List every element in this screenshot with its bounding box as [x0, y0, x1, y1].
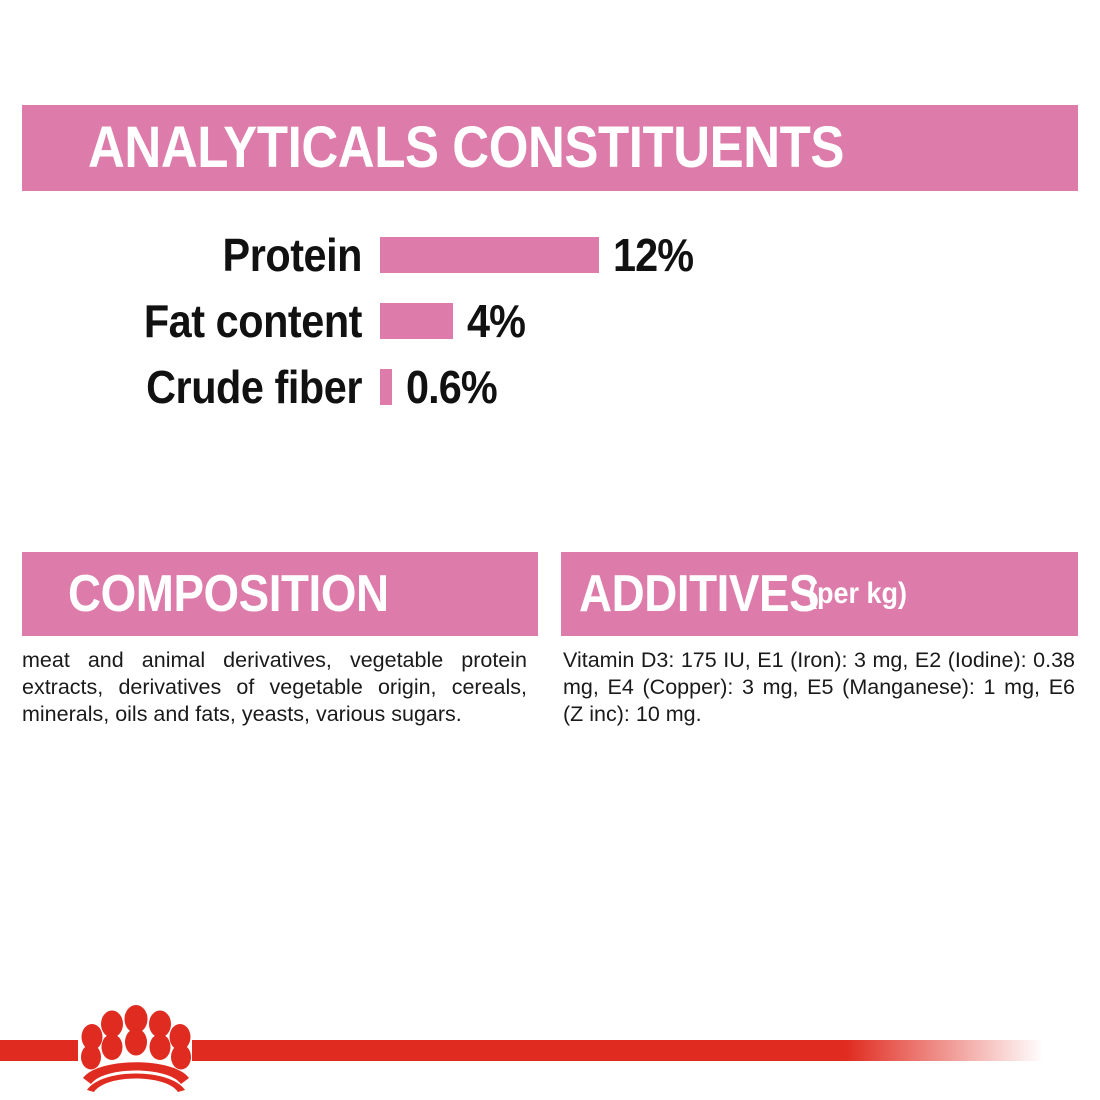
analyticals-constituents-title: ANALYTICALS CONSTITUENTS: [88, 119, 844, 177]
brand-footer: [0, 1000, 1100, 1100]
additives-header: ADDITIVES (per kg): [561, 552, 1078, 636]
nutrient-label-crude-fiber: Crude fiber: [38, 360, 380, 414]
nutrient-value-crude-fiber: 0.6%: [406, 360, 497, 414]
nutrient-bar-crude-fiber: [380, 369, 392, 405]
nutrient-bar-wrap: 12%: [380, 228, 1100, 282]
analyticals-constituents-chart: Protein 12% Fat content 4% Crude fiber 0…: [0, 222, 1100, 420]
additives-title: ADDITIVES: [579, 568, 819, 620]
nutrient-row: Fat content 4%: [0, 288, 1100, 354]
footer-red-bar-right: [192, 1040, 1052, 1061]
nutrient-bar-wrap: 0.6%: [380, 360, 1100, 414]
additives-subtitle-per-kg: (per kg): [808, 577, 907, 611]
additives-body-text: Vitamin D3: 175 IU, E1 (Iron): 3 mg, E2 …: [563, 647, 1075, 728]
nutrient-bar-fat-content: [380, 303, 453, 339]
footer-red-bar-left: [0, 1040, 78, 1061]
composition-body-text: meat and animal derivatives, vegetable p…: [22, 647, 527, 728]
nutrient-row: Protein 12%: [0, 222, 1100, 288]
royal-canin-crown-icon: [78, 1002, 194, 1092]
composition-header: COMPOSITION: [22, 552, 538, 636]
analyticals-constituents-header: ANALYTICALS CONSTITUENTS: [22, 105, 1078, 191]
nutrient-bar-wrap: 4%: [380, 294, 1100, 348]
nutrient-label-protein: Protein: [38, 228, 380, 282]
nutrient-row: Crude fiber 0.6%: [0, 354, 1100, 420]
nutrient-value-protein: 12%: [613, 228, 693, 282]
nutrient-bar-protein: [380, 237, 599, 273]
composition-title: COMPOSITION: [68, 568, 389, 620]
nutrient-label-fat-content: Fat content: [38, 294, 380, 348]
nutrient-value-fat-content: 4%: [467, 294, 525, 348]
